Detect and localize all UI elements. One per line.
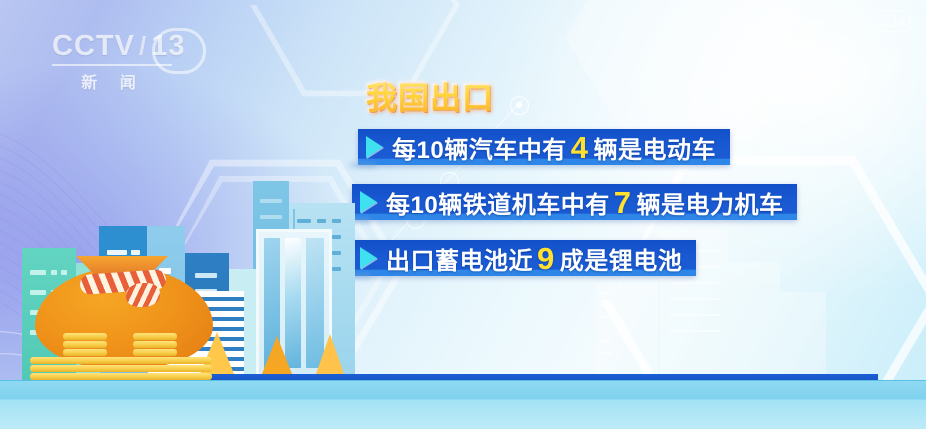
building-window bbox=[332, 267, 341, 271]
cctv-channel-logo: CCTV / 13 新 闻 bbox=[52, 30, 192, 88]
ghost-building bbox=[596, 282, 658, 380]
building-window bbox=[61, 270, 67, 275]
gold-coin bbox=[170, 365, 212, 372]
building-window bbox=[195, 273, 217, 278]
ghost-window-line bbox=[600, 292, 612, 294]
ghost-window-line bbox=[600, 304, 612, 306]
money-bag-knot bbox=[126, 283, 160, 307]
ghost-window-line bbox=[668, 298, 720, 300]
building-window bbox=[107, 250, 127, 255]
pine-tree-icon bbox=[316, 334, 344, 374]
building-window bbox=[260, 215, 282, 219]
gold-coin bbox=[170, 357, 212, 364]
ghost-building bbox=[780, 292, 826, 380]
building-window bbox=[332, 235, 341, 239]
building-window bbox=[317, 219, 326, 223]
building-window bbox=[260, 199, 282, 203]
ghost-window-line bbox=[668, 282, 720, 284]
building-window bbox=[30, 290, 46, 295]
stat-highlight-number: 9 bbox=[533, 243, 560, 274]
ghost-building bbox=[728, 262, 780, 380]
logo-ring-shape bbox=[152, 28, 206, 74]
pine-tree-icon bbox=[262, 336, 292, 374]
building-window bbox=[332, 251, 341, 255]
stat-highlight-number: 7 bbox=[610, 187, 637, 218]
ghost-window-line bbox=[600, 340, 612, 342]
page-title: 我国出口 bbox=[366, 73, 494, 118]
building-window bbox=[30, 270, 46, 275]
building-window bbox=[51, 270, 57, 275]
decorative-circle-inner bbox=[516, 102, 522, 108]
stat-bar-text: 每10辆铁道机车中有 7 辆是电力机车 bbox=[386, 185, 783, 220]
ghost-window-line bbox=[668, 314, 720, 316]
building-window bbox=[297, 219, 311, 223]
gold-coin bbox=[63, 333, 107, 340]
building-window bbox=[131, 250, 140, 255]
gold-coin bbox=[133, 333, 177, 340]
broadcast-graphic-stage: CCTV / 13 新 闻 我国出口 每10辆汽车中有 4 辆是电动车 每10辆… bbox=[0, 0, 926, 429]
hexagon-shape bbox=[565, 0, 815, 145]
ground-base bbox=[0, 381, 926, 429]
decorative-circle bbox=[510, 96, 529, 115]
gold-coin bbox=[170, 373, 212, 380]
stat-suffix: 成是锂电池 bbox=[560, 241, 683, 276]
gold-coin bbox=[63, 341, 107, 348]
stat-bar-text: 出口蓄电池近 9 成是锂电池 bbox=[386, 241, 682, 276]
ghost-window-line bbox=[600, 316, 612, 318]
channel-subtitle: 新 闻 bbox=[52, 69, 174, 93]
building-window bbox=[332, 219, 341, 223]
cctv-letters: CCTV bbox=[52, 30, 135, 63]
stat-suffix: 辆是电力机车 bbox=[636, 185, 783, 220]
gold-coin bbox=[63, 349, 107, 356]
stat-bar-text: 每10辆汽车中有 4 辆是电动车 bbox=[392, 130, 716, 165]
gold-coin bbox=[133, 349, 177, 356]
stat-highlight-number: 4 bbox=[567, 132, 594, 163]
gold-coin bbox=[133, 341, 177, 348]
ghost-window-line bbox=[600, 352, 612, 354]
building-antenna bbox=[293, 209, 295, 229]
ghost-window-line bbox=[668, 330, 720, 332]
logo-underline bbox=[52, 64, 172, 66]
broadcast-watermark-icon bbox=[876, 8, 912, 34]
stat-suffix: 辆是电动车 bbox=[593, 130, 716, 165]
logo-slash: / bbox=[139, 31, 147, 62]
gold-coin-stacks-icon bbox=[170, 357, 212, 381]
